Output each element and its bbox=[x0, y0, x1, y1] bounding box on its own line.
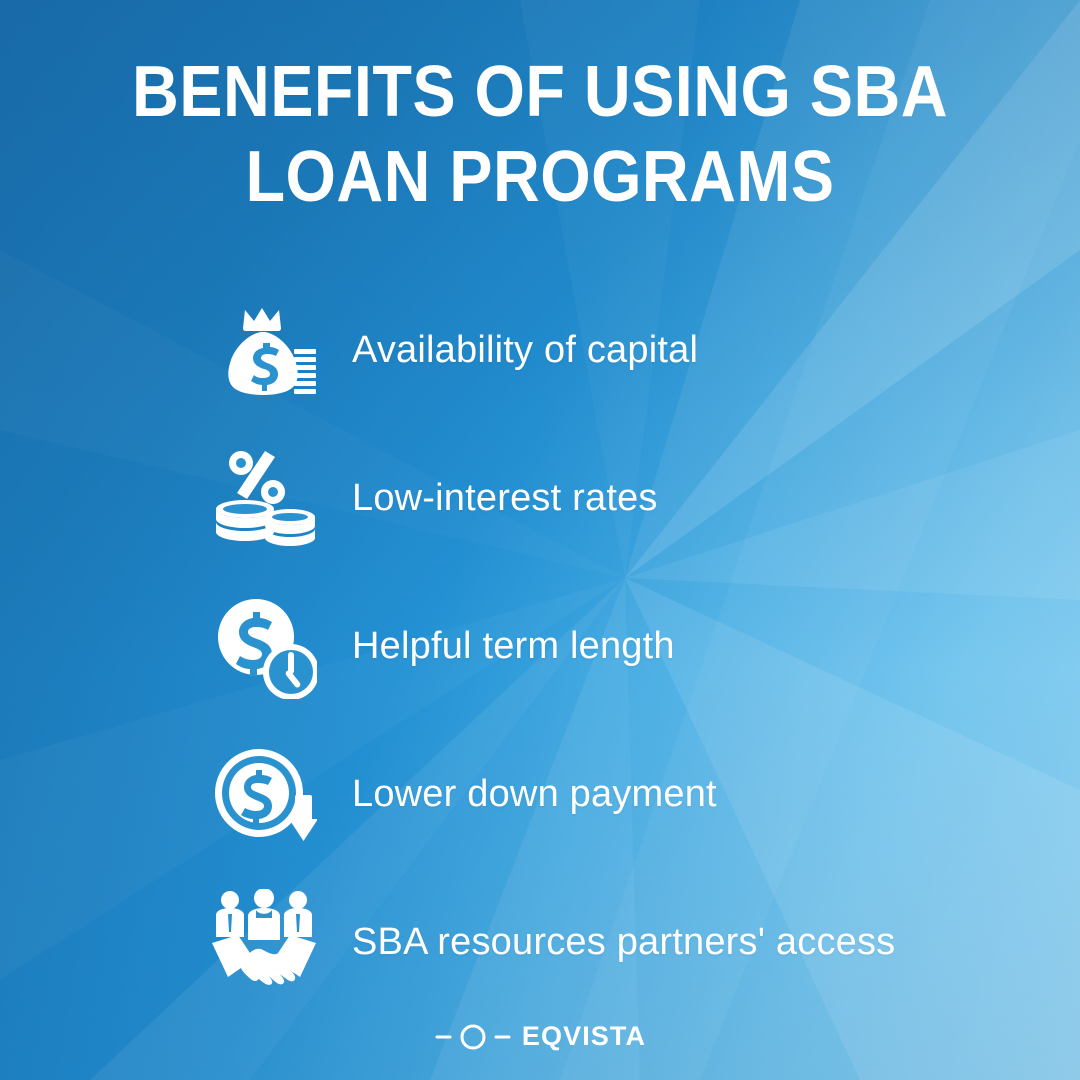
list-item: Availability of capital bbox=[0, 276, 1080, 424]
handshake-people-icon bbox=[208, 889, 320, 995]
benefits-list: Availability of capital bbox=[0, 276, 1080, 1016]
title-line-1: BENEFITS OF USING SBA bbox=[54, 56, 1026, 129]
list-item: Low-interest rates bbox=[0, 424, 1080, 572]
page-title: BENEFITS OF USING SBA LOAN PROGRAMS bbox=[0, 56, 1080, 215]
dollar-coin-down-arrow-icon bbox=[208, 741, 320, 847]
title-line-2: LOAN PROGRAMS bbox=[54, 141, 1026, 214]
infographic-poster: BENEFITS OF USING SBA LOAN PROGRAMS bbox=[0, 0, 1080, 1080]
list-item-label: Low-interest rates bbox=[352, 477, 658, 520]
list-item-label: Lower down payment bbox=[352, 773, 717, 816]
percent-coins-icon bbox=[208, 445, 320, 551]
list-item: SBA resources partners' access bbox=[0, 868, 1080, 1016]
brand-name: EQVISTA bbox=[522, 1021, 646, 1052]
brand-logo[interactable]: EQVISTA bbox=[0, 1021, 1080, 1052]
list-item-label: SBA resources partners' access bbox=[352, 921, 895, 964]
dashed-circle-icon bbox=[434, 1022, 512, 1052]
list-item-label: Helpful term length bbox=[352, 625, 675, 668]
list-item-label: Availability of capital bbox=[352, 329, 698, 372]
money-bag-icon bbox=[208, 297, 320, 403]
dollar-coin-clock-icon bbox=[208, 593, 320, 699]
list-item: Helpful term length bbox=[0, 572, 1080, 720]
list-item: Lower down payment bbox=[0, 720, 1080, 868]
